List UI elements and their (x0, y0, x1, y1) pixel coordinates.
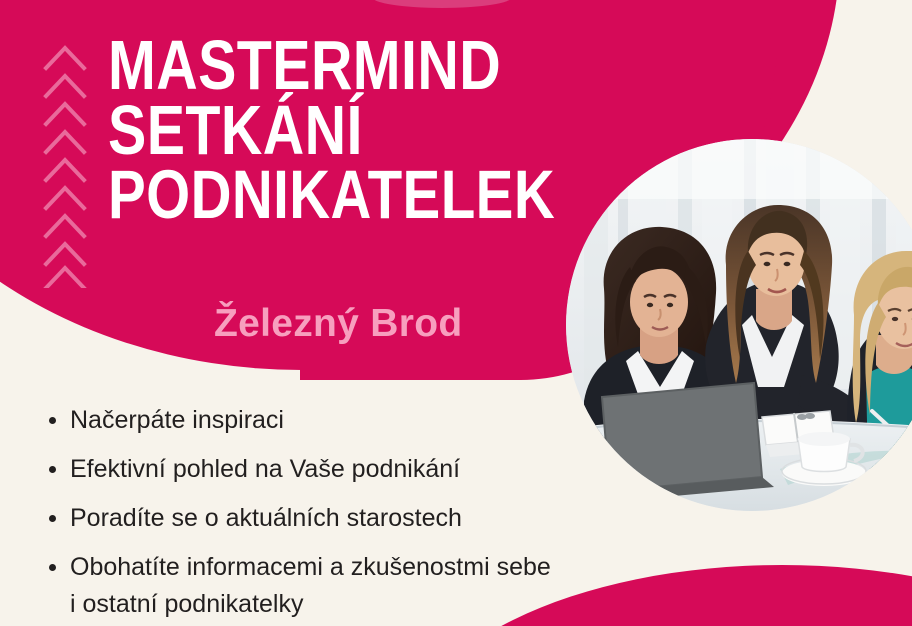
list-item: Načerpáte inspiraci (38, 404, 678, 436)
headline-line-1: MASTERMIND (108, 33, 555, 98)
list-item-continuation: i ostatní podnikatelky (38, 588, 678, 620)
chevron-stack-icon (42, 38, 88, 286)
list-item: Poradíte se o aktuálních starostech (38, 502, 678, 534)
list-item: Efektivní pohled na Vaše podnikání (38, 453, 678, 485)
poster-headline: MASTERMIND SETKÁNÍ PODNIKATELEK (108, 33, 653, 227)
headline-line-2: SETKÁNÍ (108, 98, 555, 163)
poster-canvas: MASTERMIND SETKÁNÍ PODNIKATELEK Železný … (0, 0, 912, 626)
benefits-list: Načerpáte inspiraci Efektivní pohled na … (38, 404, 678, 626)
list-item: Obohatíte informacemi a zkušenostmi sebe (38, 551, 678, 583)
poster-subtitle-location: Železný Brod (214, 302, 462, 346)
headline-line-3: PODNIKATELEK (108, 163, 555, 227)
